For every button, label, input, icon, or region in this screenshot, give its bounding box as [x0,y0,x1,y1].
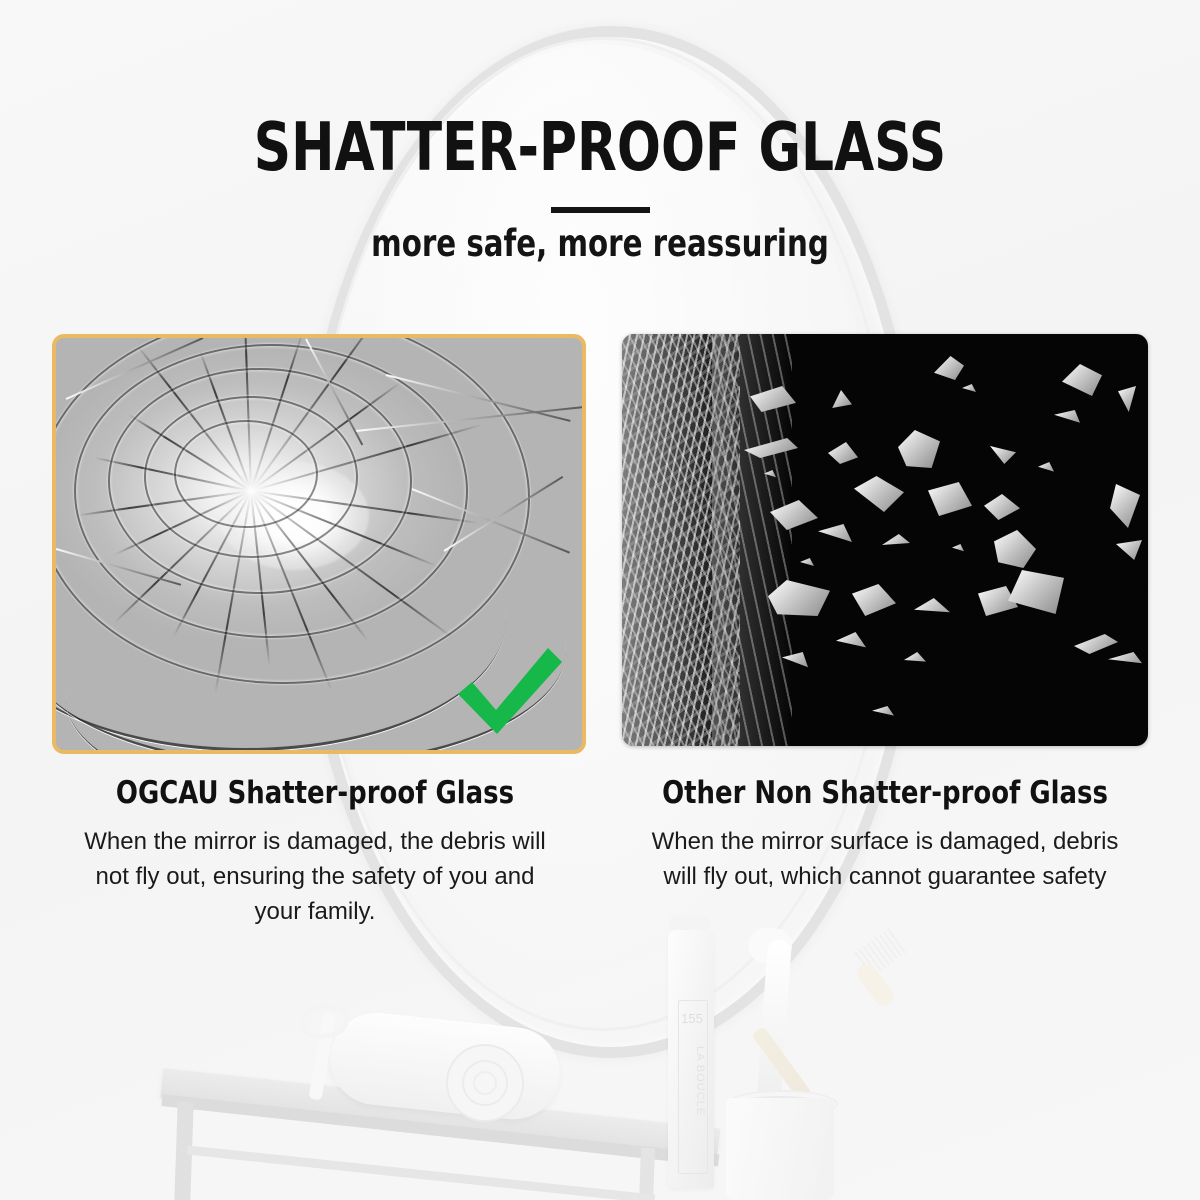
glass-shard [984,494,1020,520]
glass-shard [852,584,896,616]
glass-shard [800,558,814,568]
glass-shard [830,390,852,408]
glass-shard [934,356,964,380]
glass-shard [1062,364,1102,396]
glass-shard [818,524,852,548]
glass-shard [882,534,910,554]
glass-shard [854,476,904,512]
glass-shard [1118,386,1136,412]
glass-shard [1038,462,1054,474]
glass-shard [1116,540,1142,560]
glass-shard [914,598,950,624]
right-caption-body: When the mirror surface is damaged, debr… [605,824,1165,894]
green-check-icon [450,642,568,742]
glass-shard [1110,484,1140,528]
right-caption-heading: Other Non Shatter-proof Glass [625,775,1146,811]
glass-shard [990,446,1016,464]
comparison-columns: OGCAU Shatter-proof Glass When the mirro… [0,0,1200,1200]
glass-shard [898,430,940,468]
glass-shard [994,530,1036,568]
infographic-content: SHATTER-PROOF GLASS more safe, more reas… [0,0,1200,1200]
right-caption: Other Non Shatter-proof Glass When the m… [605,775,1165,894]
flying-debris-photo [622,334,1148,746]
glass-shard [1108,652,1142,668]
glass-shard [836,632,866,654]
left-caption: OGCAU Shatter-proof Glass When the mirro… [35,775,595,929]
infographic-canvas: 155 LA BOUCLE SHATTER-PROOF GLASS more s… [0,0,1200,1200]
glass-shard [872,706,894,718]
glass-shard [1074,634,1118,654]
glass-shard [904,652,926,668]
left-caption-heading: OGCAU Shatter-proof Glass [55,775,576,811]
glass-shard [928,482,972,516]
glass-shard [952,544,964,553]
cracked-glass-photo [56,338,582,750]
shatterproof-glass-image-panel [52,334,586,754]
glass-shard [828,442,858,464]
non-shatterproof-glass-image-panel [622,334,1148,746]
left-caption-body: When the mirror is damaged, the debris w… [35,824,595,929]
glass-shard [1054,410,1080,426]
glass-shard [962,384,976,394]
